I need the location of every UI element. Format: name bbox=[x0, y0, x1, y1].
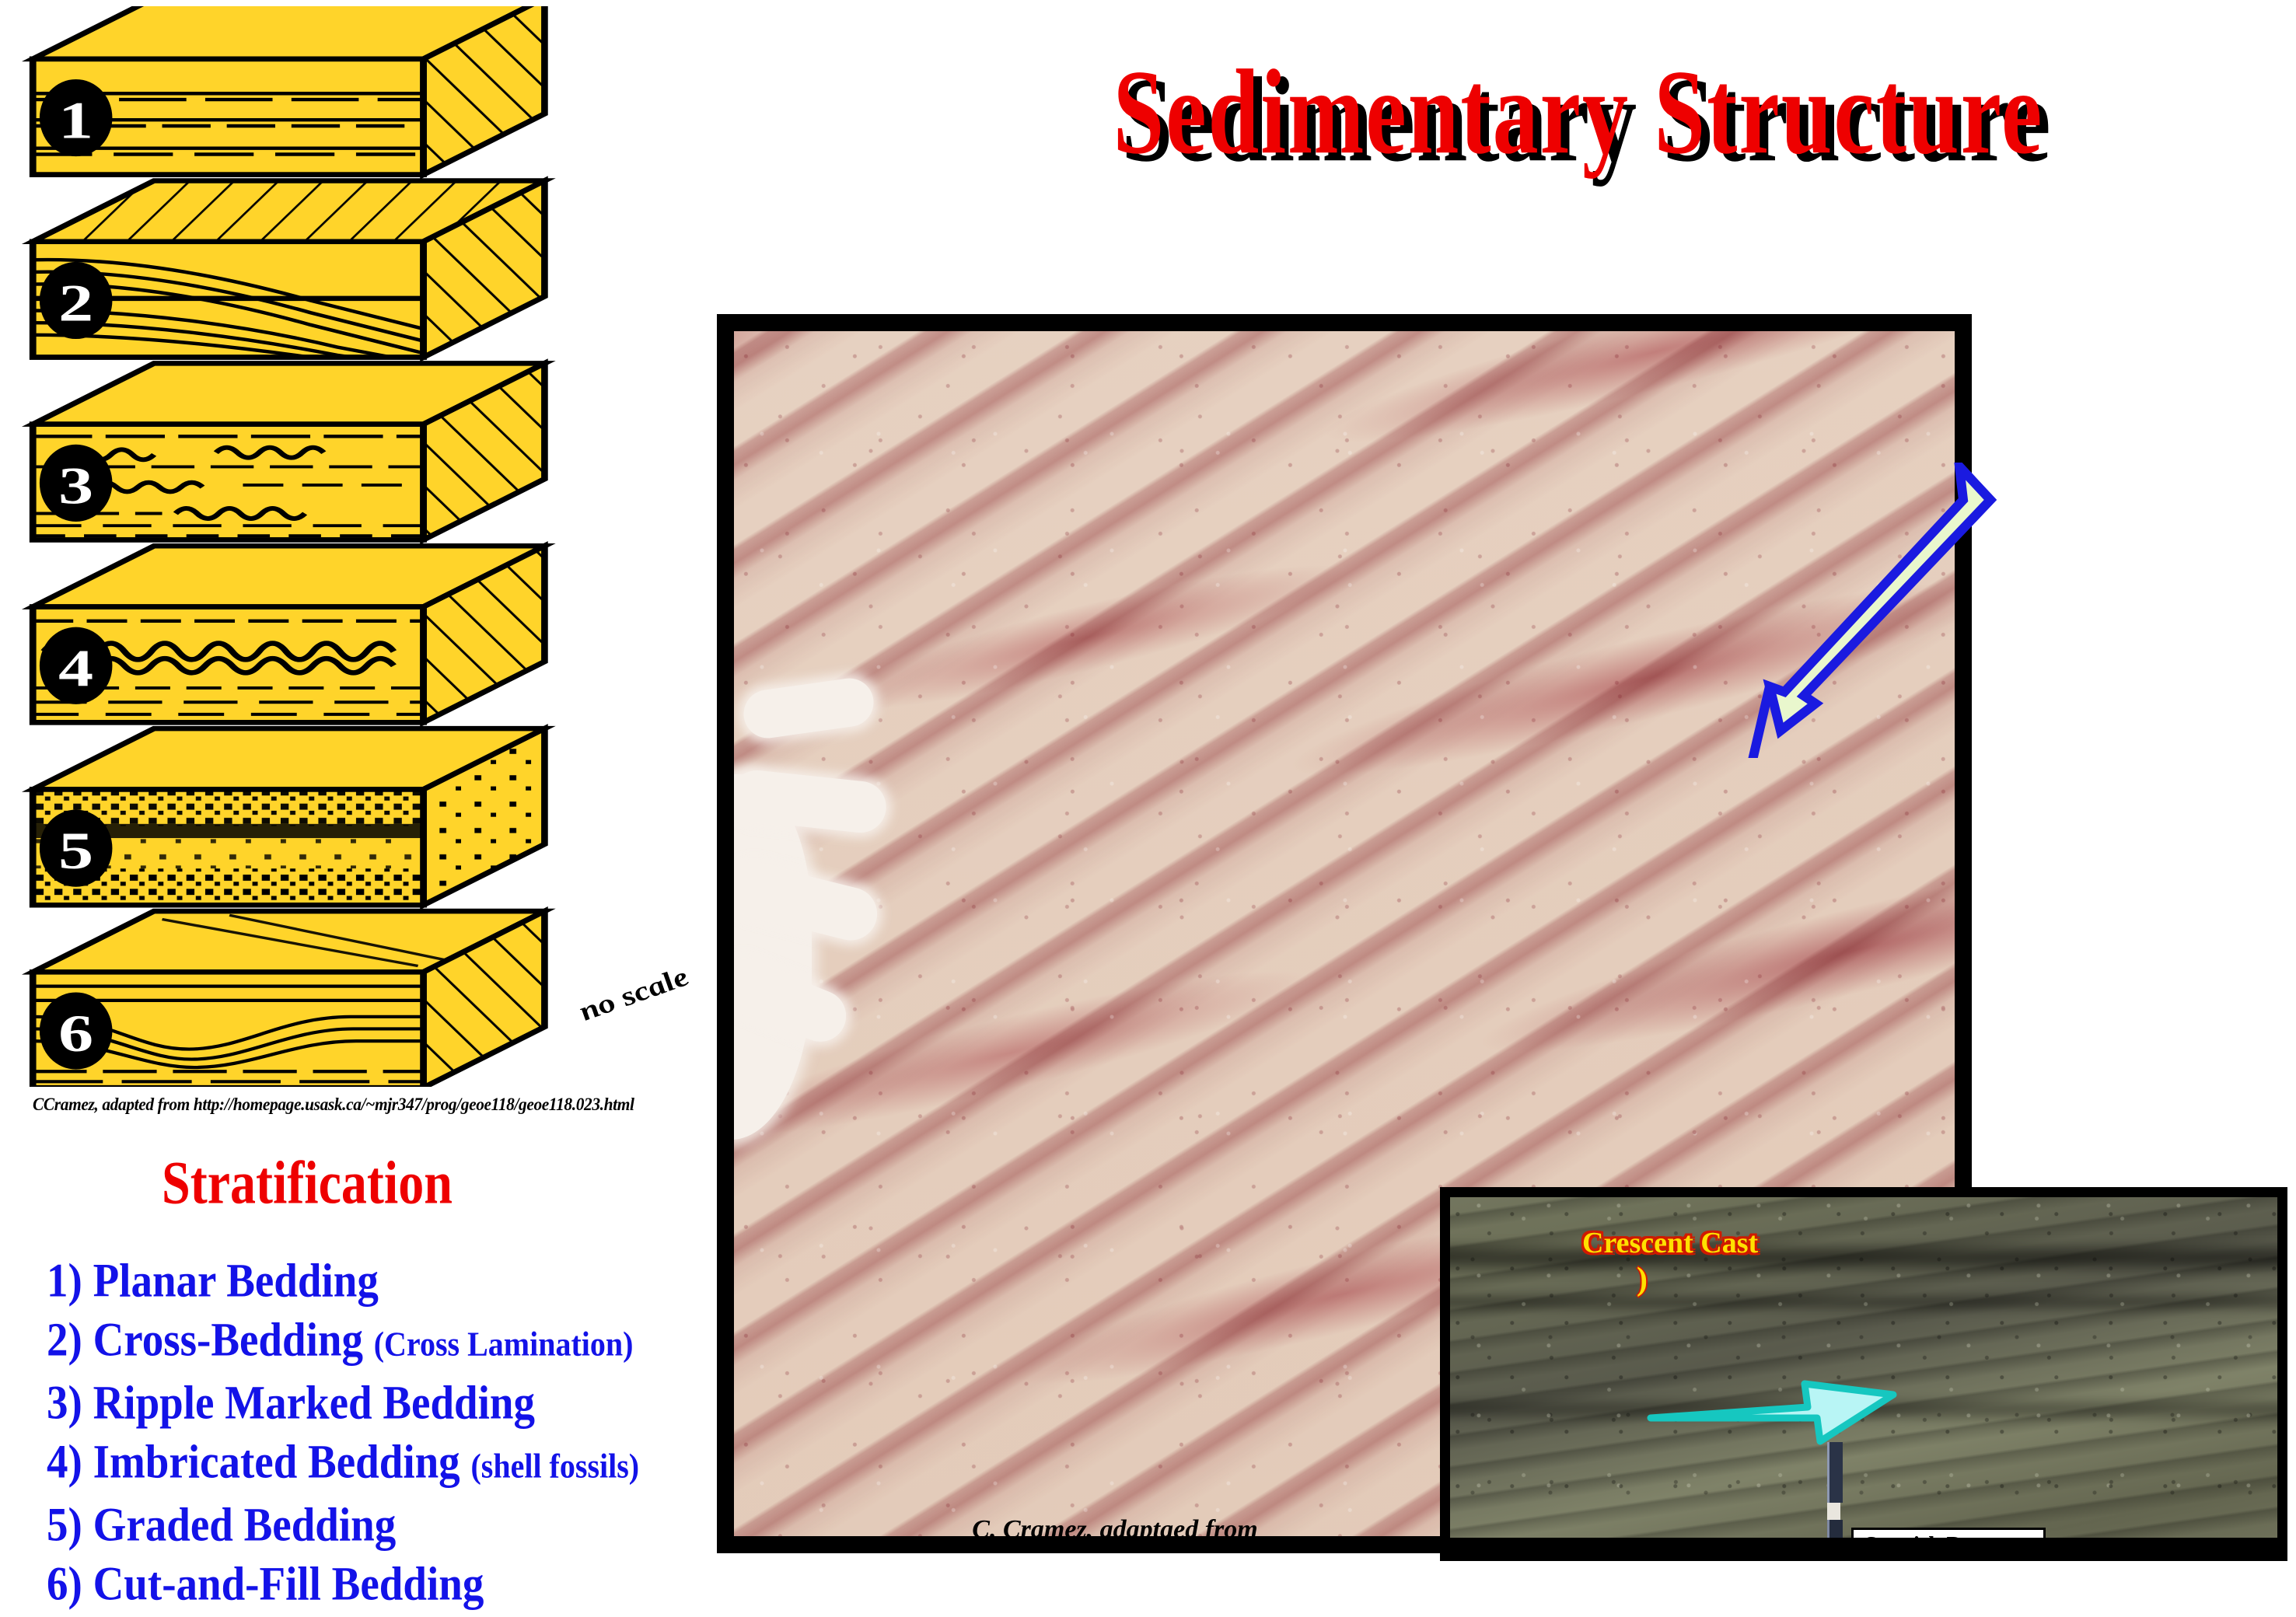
palm bbox=[734, 774, 812, 1140]
list-item-label: 4) Imbricated Bedding bbox=[47, 1435, 460, 1488]
main-photo-caption: C. Cramez, adaptaed from http://pls.atu.… bbox=[742, 1513, 1488, 1536]
list-item: 5) Graded Bedding bbox=[47, 1492, 715, 1558]
page-title-text: Sedimentary Structure bbox=[917, 43, 2239, 183]
list-item-label: 6) Cut-and-Fill Bedding bbox=[47, 1557, 484, 1610]
location-label: Spanish Pyrenees bbox=[1851, 1528, 2046, 1538]
block-number-5: 5 bbox=[58, 822, 93, 881]
block-number-3: 3 bbox=[58, 457, 93, 515]
list-item: 2) Cross-Bedding (Cross Lamination) bbox=[47, 1307, 715, 1378]
stratification-list: 1) Planar Bedding 2) Cross-Bedding (Cros… bbox=[47, 1248, 715, 1610]
crescent-cast-pointer-arrow bbox=[1644, 1360, 1901, 1454]
block-diagram: 1 2 3 4 5 6 no scale bbox=[14, 6, 698, 1087]
finger-1 bbox=[741, 676, 877, 742]
crescent-cast-label: Crescent Cast bbox=[1582, 1226, 1758, 1260]
pencil-body-lower bbox=[1827, 1520, 1843, 1538]
list-item-label: 1) Planar Bedding bbox=[47, 1254, 379, 1307]
list-item: 3) Ripple Marked Bedding bbox=[47, 1370, 715, 1436]
list-item-sublabel: (Cross Lamination) bbox=[374, 1324, 634, 1363]
list-item-label: 2) Cross-Bedding bbox=[47, 1313, 363, 1366]
no-scale-note: no scale bbox=[571, 962, 695, 1026]
block-number-2: 2 bbox=[58, 274, 93, 333]
list-item-label: 3) Ripple Marked Bedding bbox=[47, 1376, 535, 1429]
main-photo-caption-line1: C. Cramez, adaptaed from bbox=[742, 1513, 1488, 1536]
stratification-heading: Stratification bbox=[0, 1149, 614, 1219]
crescent-glyph: ) bbox=[1637, 1261, 1648, 1298]
block-number-6: 6 bbox=[58, 1005, 93, 1063]
list-item-label: 5) Graded Bedding bbox=[47, 1498, 396, 1551]
pencil-for-scale bbox=[1827, 1442, 1840, 1538]
list-item-sublabel: (shell fossils) bbox=[470, 1446, 639, 1485]
pencil-ferrule bbox=[1827, 1503, 1840, 1520]
list-item: 1) Planar Bedding bbox=[47, 1248, 715, 1314]
inset-photo-frame: Crescent Cast ) Spanish Pyrenees bbox=[1440, 1187, 2287, 1561]
block-number-1: 1 bbox=[58, 92, 93, 150]
inset-photo-image: Crescent Cast ) Spanish Pyrenees bbox=[1450, 1197, 2277, 1538]
block-diagram-credit: CCramez, adapted from http://homepage.us… bbox=[33, 1095, 640, 1115]
pencil-body-upper bbox=[1827, 1442, 1843, 1503]
hand-for-scale bbox=[734, 681, 944, 1163]
block-number-4: 4 bbox=[58, 640, 93, 698]
page-title: Sedimentary Structure Sedimentary Struct… bbox=[917, 43, 2239, 144]
list-item: 4) Imbricated Bedding (shell fossils) bbox=[47, 1429, 715, 1500]
